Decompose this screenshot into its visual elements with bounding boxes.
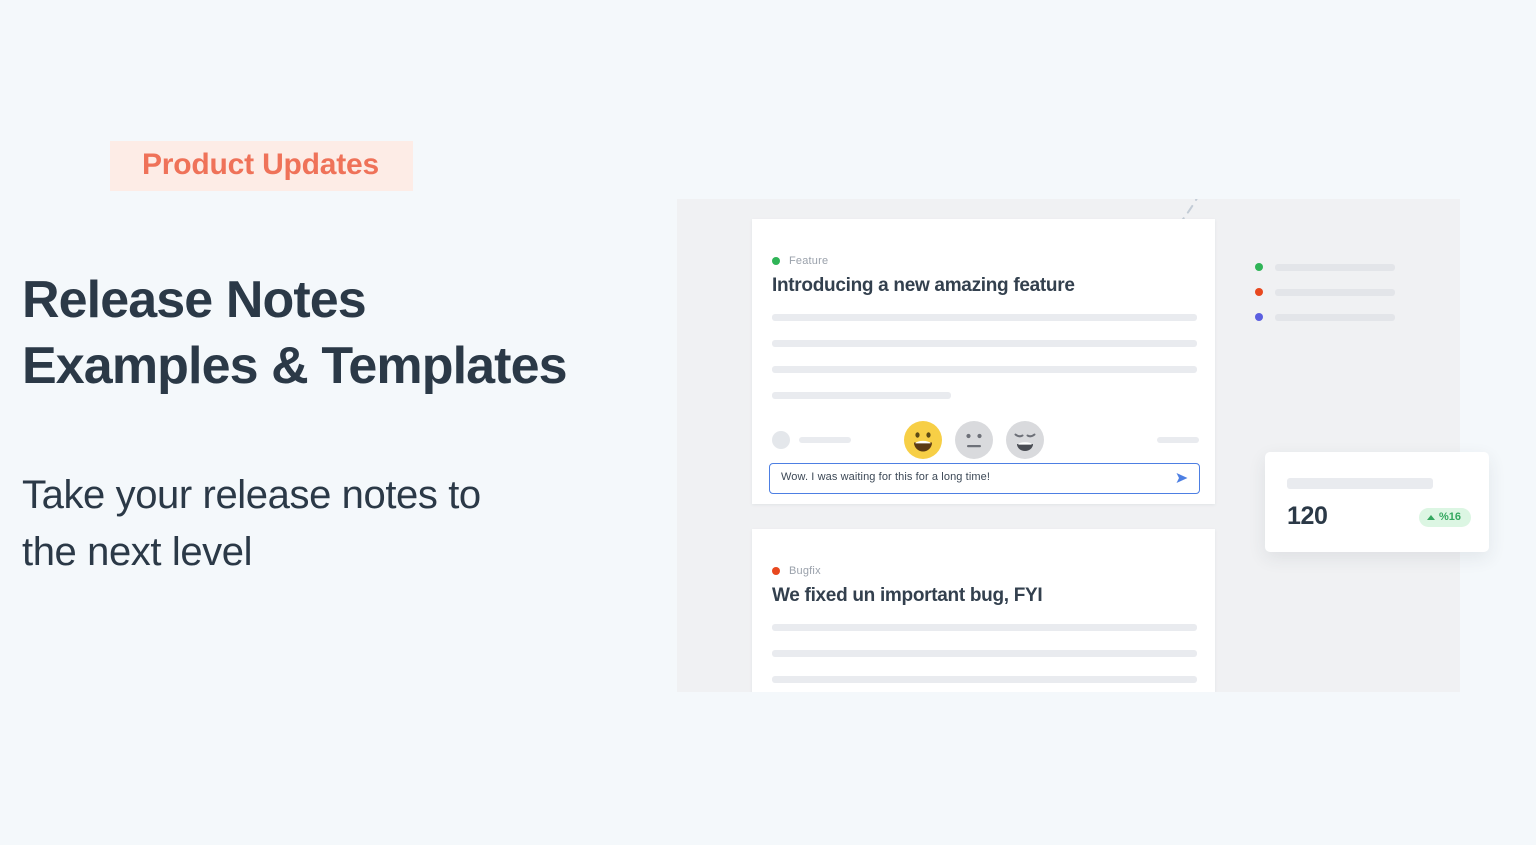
page-subtitle-line-2: the next level: [22, 524, 662, 581]
bugfix-card-title: We fixed un important bug, FYI: [772, 585, 1042, 607]
badge-label: Product Updates: [142, 148, 379, 181]
category-label-skeleton: [1275, 289, 1395, 296]
skeleton-line: [772, 624, 1197, 631]
bugfix-release-card[interactable]: Bugfix We fixed un important bug, FYI: [752, 529, 1215, 692]
status-dot-icon: [772, 257, 780, 265]
skeleton-line: [772, 314, 1197, 321]
bugfix-category-row: Bugfix: [772, 565, 821, 577]
skeleton-line: [772, 676, 1197, 683]
skeleton-line: [772, 340, 1197, 347]
release-notes-illustration: Feature Introducing a new amazing featur…: [677, 199, 1460, 692]
hero-left-column: Product Updates Release Notes Examples &…: [0, 0, 680, 845]
product-updates-badge: Product Updates: [110, 141, 413, 191]
avatar: [772, 431, 790, 449]
category-filter-list: [1255, 263, 1395, 338]
category-item-improvement[interactable]: [1255, 313, 1395, 321]
category-label-skeleton: [1275, 264, 1395, 271]
feature-card-title: Introducing a new amazing feature: [772, 275, 1075, 297]
category-item-feature[interactable]: [1255, 263, 1395, 271]
status-dot-icon: [1255, 313, 1263, 321]
timestamp-skeleton: [1157, 437, 1199, 443]
category-item-bugfix[interactable]: [1255, 288, 1395, 296]
feature-category-label: Feature: [789, 255, 828, 267]
author-name-skeleton: [799, 437, 851, 443]
triangle-up-icon: [1427, 515, 1435, 520]
page-title-line-2: Examples & Templates: [22, 333, 672, 400]
stat-change-label: %16: [1439, 511, 1461, 523]
neutral-face-emoji[interactable]: [955, 421, 993, 459]
category-label-skeleton: [1275, 314, 1395, 321]
emoji-reaction-group: [904, 421, 1044, 459]
stat-card: 120 %16: [1265, 452, 1489, 552]
stat-value: 120: [1287, 502, 1328, 531]
page-subtitle-line-1: Take your release notes to: [22, 467, 662, 524]
bugfix-card-body-skeleton: [772, 624, 1197, 692]
grinning-face-emoji[interactable]: [904, 421, 942, 459]
page-subtitle: Take your release notes to the next leve…: [22, 467, 662, 581]
status-dot-icon: [1255, 263, 1263, 271]
stat-change-badge: %16: [1419, 508, 1471, 527]
feature-card-body-skeleton: [772, 314, 1197, 418]
stat-title-skeleton: [1287, 478, 1433, 489]
feature-release-card[interactable]: Feature Introducing a new amazing featur…: [752, 219, 1215, 504]
send-arrow-icon[interactable]: [1175, 471, 1189, 485]
status-dot-icon: [772, 567, 780, 575]
comment-input-value: Wow. I was waiting for this for a long t…: [781, 471, 990, 483]
skeleton-line: [772, 366, 1197, 373]
feature-category-row: Feature: [772, 255, 828, 267]
page-title-line-1: Release Notes: [22, 267, 672, 334]
illustration-clip-area: Feature Introducing a new amazing featur…: [677, 199, 1460, 692]
skeleton-line: [772, 392, 951, 399]
weary-face-emoji[interactable]: [1006, 421, 1044, 459]
status-dot-icon: [1255, 288, 1263, 296]
skeleton-line: [772, 650, 1197, 657]
bugfix-category-label: Bugfix: [789, 565, 821, 577]
comment-input[interactable]: Wow. I was waiting for this for a long t…: [769, 463, 1200, 494]
page-title: Release Notes Examples & Templates: [22, 267, 672, 400]
